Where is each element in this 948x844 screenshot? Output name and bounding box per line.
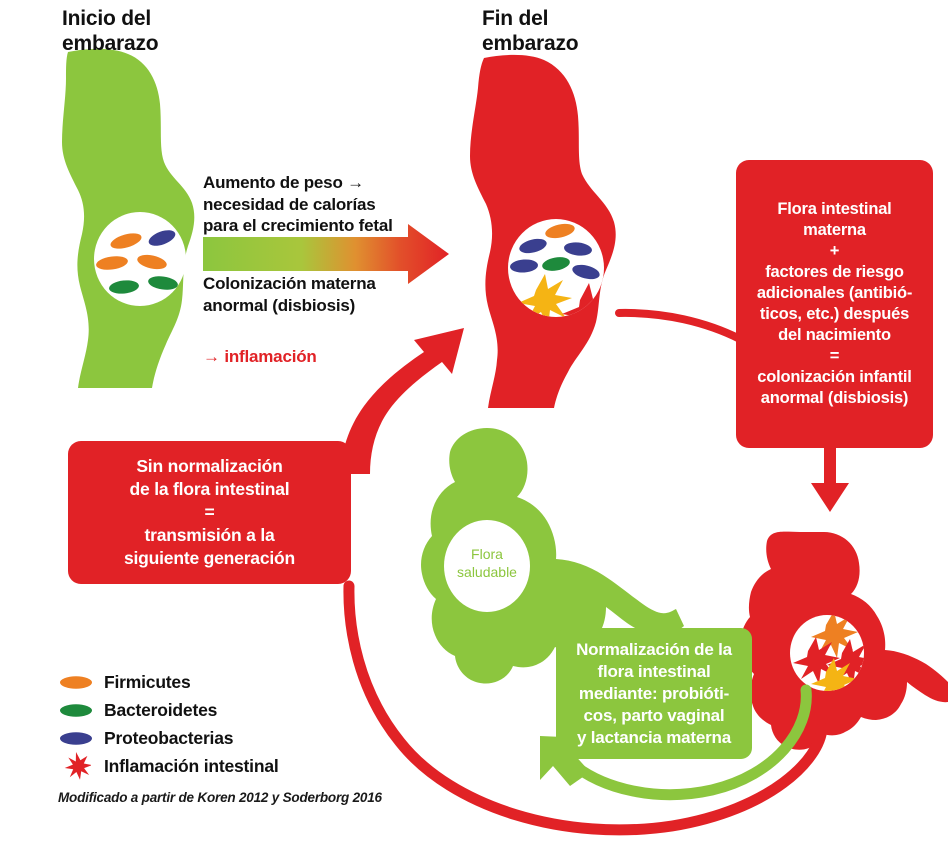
inflammation-text: → inflamación — [203, 346, 438, 367]
legend-label-firmicutes: Firmicutes — [104, 672, 191, 693]
legend-label-proteobacterias: Proteobacterias — [104, 728, 233, 749]
starburst-icon — [58, 752, 94, 780]
callout-normalization: Normalización de la flora intestinal med… — [556, 628, 752, 759]
infographic-canvas: Inicio del embarazo Fin del embarazo Aum… — [0, 0, 948, 844]
legend: Firmicutes Bacteroidetes Proteobacterias — [58, 668, 388, 780]
stage-title-start: Inicio del embarazo — [62, 6, 252, 56]
legend-item-proteobacterias: Proteobacterias — [58, 724, 388, 752]
callout-maternal-flora: Flora intestinal materna + factores de r… — [736, 160, 933, 448]
legend-item-bacteroidetes: Bacteroidetes — [58, 696, 388, 724]
healthy-flora-label: Flora saludable — [441, 545, 533, 581]
curved-connector-to-maternal-box — [619, 313, 740, 339]
down-arrow-to-dysbiotic-baby — [811, 447, 849, 512]
callout-no-normalization: Sin normalización de la flora intestinal… — [68, 441, 351, 584]
ellipse-icon — [58, 668, 94, 696]
baby-dysbiotic-figure — [741, 532, 948, 750]
source-attribution: Modificado a partir de Koren 2012 y Sode… — [58, 790, 488, 805]
legend-item-firmicutes: Firmicutes — [58, 668, 388, 696]
weight-gain-text: Aumento de peso → necesidad de calorías … — [203, 172, 438, 237]
pregnant-woman-dysbiotic-figure — [470, 55, 617, 408]
legend-label-bacteroidetes: Bacteroidetes — [104, 700, 217, 721]
stage-title-end: Fin del embarazo — [482, 6, 672, 56]
colonization-text: Colonización materna anormal (disbiosis) — [203, 273, 438, 316]
legend-label-inflamacion: Inflamación intestinal — [104, 756, 279, 777]
ellipse-icon — [58, 696, 94, 724]
ellipse-icon — [58, 724, 94, 752]
legend-item-inflamacion: Inflamación intestinal — [58, 752, 388, 780]
pregnant-woman-healthy-figure — [62, 49, 194, 388]
